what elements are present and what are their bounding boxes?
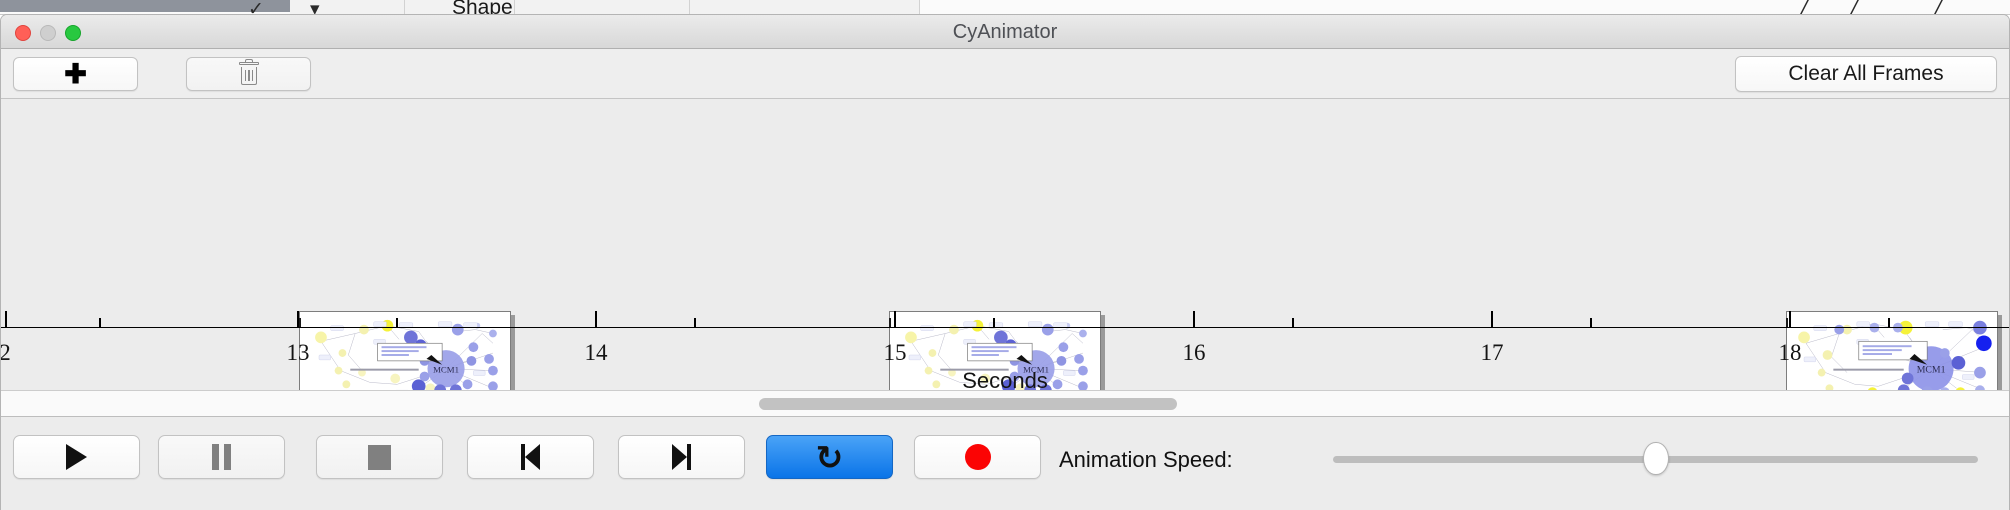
ruler-tick [1491,311,1493,328]
background-slash-glyph: ╱ [1932,0,1943,15]
background-caret-glyph: ▾ [310,0,320,15]
ruler-tick-label: 14 [585,340,608,366]
stop-icon [368,445,391,470]
window-title: CyAnimator [1,15,2009,49]
background-window-strip: ✓ ▾ Shape ╱ ╱ ╱ [0,0,2010,15]
background-cell [690,0,920,14]
timeline-horizontal-scrollbar[interactable] [1,391,2009,417]
frame-toolbar: ✚ Clear All Frames [1,49,2009,99]
loop-icon: ↻ [816,441,844,474]
timeline-ruler-axis [1,327,2009,328]
ruler-tick-label: 2 [1,340,11,366]
ruler-tick [396,318,398,328]
ruler-tick [297,311,299,328]
ruler-tick [1888,318,1890,328]
skip-forward-icon [672,444,691,470]
ruler-tick [1193,311,1195,328]
skip-back-icon [521,444,540,470]
clear-all-frames-label: Clear All Frames [1788,62,1943,86]
ruler-tick [1789,311,1791,328]
ruler-tick-label: 16 [1183,340,1206,366]
background-check-glyph: ✓ [248,0,264,15]
slider-thumb[interactable] [1643,442,1669,475]
ruler-tick [5,311,7,328]
clear-all-frames-button[interactable]: Clear All Frames [1735,56,1997,92]
ruler-tick-label: 15 [884,340,907,366]
record-icon [965,444,991,470]
ruler-tick-label: 18 [1779,340,1802,366]
title-bar: CyAnimator [1,15,2009,49]
ruler-tick [595,311,597,328]
loop-button[interactable]: ↻ [766,435,893,479]
play-icon [66,444,87,470]
animation-speed-slider[interactable] [1333,455,1978,463]
cyanimator-window: CyAnimator ✚ Clear All Frames [0,14,2010,510]
ruler-tick [1292,318,1294,328]
pause-icon [212,444,231,470]
playback-controls-bar: ↻ Animation Speed: [1,417,2009,501]
plus-icon: ✚ [64,61,87,88]
ruler-tick-label: 13 [287,340,310,366]
ruler-tick [99,318,101,328]
background-dark-tab [0,0,290,12]
ruler-tick [993,318,995,328]
delete-frame-button[interactable] [186,57,311,91]
cyanimator-window-root: ✓ ▾ Shape ╱ ╱ ╱ CyAnimator ✚ [0,0,2010,510]
record-button[interactable] [914,435,1041,479]
ruler-tick [694,318,696,328]
stop-button[interactable] [316,435,443,479]
background-cell [290,0,405,14]
background-cell [515,0,690,14]
timeline-axis-title: Seconds [1,368,2009,391]
background-slash-glyph: ╱ [1798,0,1809,15]
play-button[interactable] [13,435,140,479]
ruler-tick [1590,318,1592,328]
ruler-tick-label: 17 [1481,340,1504,366]
skip-start-button[interactable] [467,435,594,479]
background-window-label: Shape [452,0,513,15]
background-slash-glyph: ╱ [1848,0,1859,15]
ruler-tick [894,311,896,328]
timeline-panel[interactable]: MCM1 [1,99,2009,391]
add-frame-button[interactable]: ✚ [13,57,138,91]
scrollbar-thumb[interactable] [759,398,1177,410]
pause-button[interactable] [158,435,285,479]
animation-speed-label: Animation Speed: [1059,447,1233,473]
skip-end-button[interactable] [618,435,745,479]
trash-icon [239,62,259,86]
